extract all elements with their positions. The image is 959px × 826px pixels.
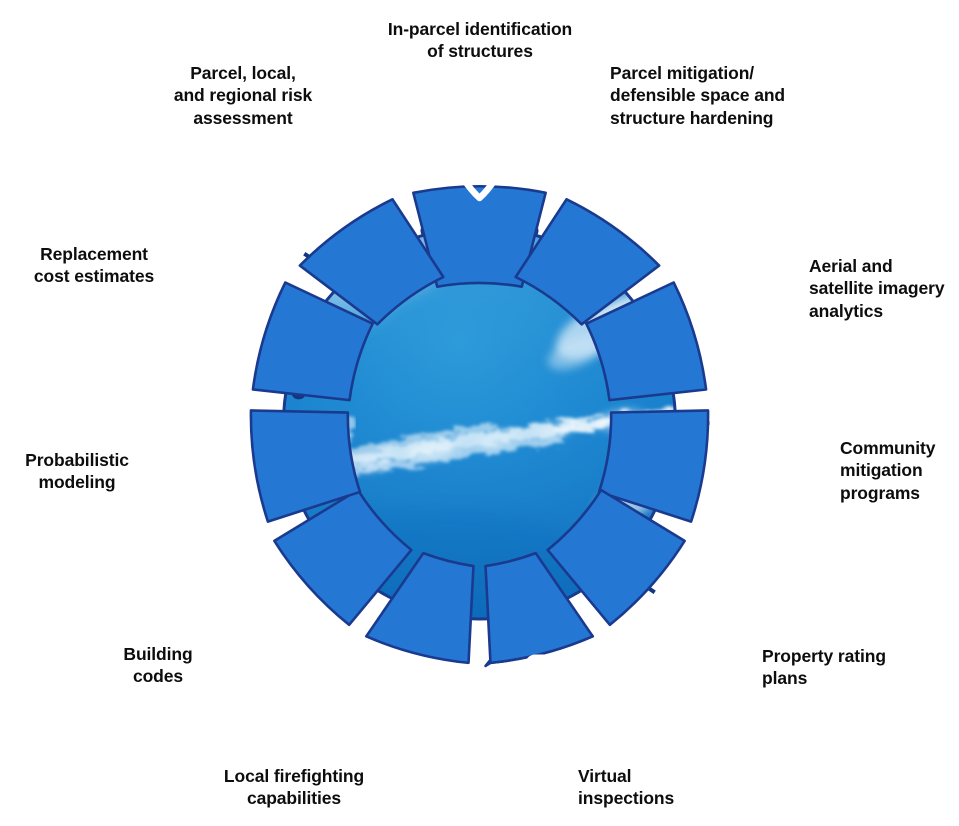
label-aerial-satellite: Aerial and satellite imagery analytics [809, 255, 959, 322]
label-parcel-mitigation: Parcel mitigation/ defensible space and … [610, 62, 832, 129]
bar-line-chart-icon [148, 414, 242, 507]
label-risk-assessment: Parcel, local, and regional risk assessm… [150, 62, 336, 129]
label-community-mitigation: Community mitigation programs [840, 437, 959, 504]
label-replacement-cost: Replacement cost estimates [18, 243, 170, 288]
fire-maltese-cross-icon [725, 426, 805, 514]
label-building-codes: Building codes [108, 643, 208, 688]
label-probabilistic-modeling: Probabilistic modeling [20, 449, 134, 494]
document-analysis-icon [673, 586, 736, 656]
office-building-icon [208, 563, 288, 647]
infographic-wheel: In-parcel identification of structures P… [0, 0, 959, 826]
tree-flame-icon [282, 130, 361, 208]
firefighter-helmet-icon [348, 655, 434, 743]
airplane-icon [690, 239, 805, 354]
label-property-rating: Property rating plans [762, 645, 922, 690]
label-virtual-inspections: Virtual inspections [578, 765, 728, 810]
dollar-circle-icon [172, 257, 252, 337]
label-in-parcel-identification: In-parcel identification of structures [367, 18, 593, 63]
phone-house-icon [528, 657, 578, 749]
house-in-circle-icon [584, 136, 662, 214]
label-local-firefighting: Local firefighting capabilities [213, 765, 375, 810]
